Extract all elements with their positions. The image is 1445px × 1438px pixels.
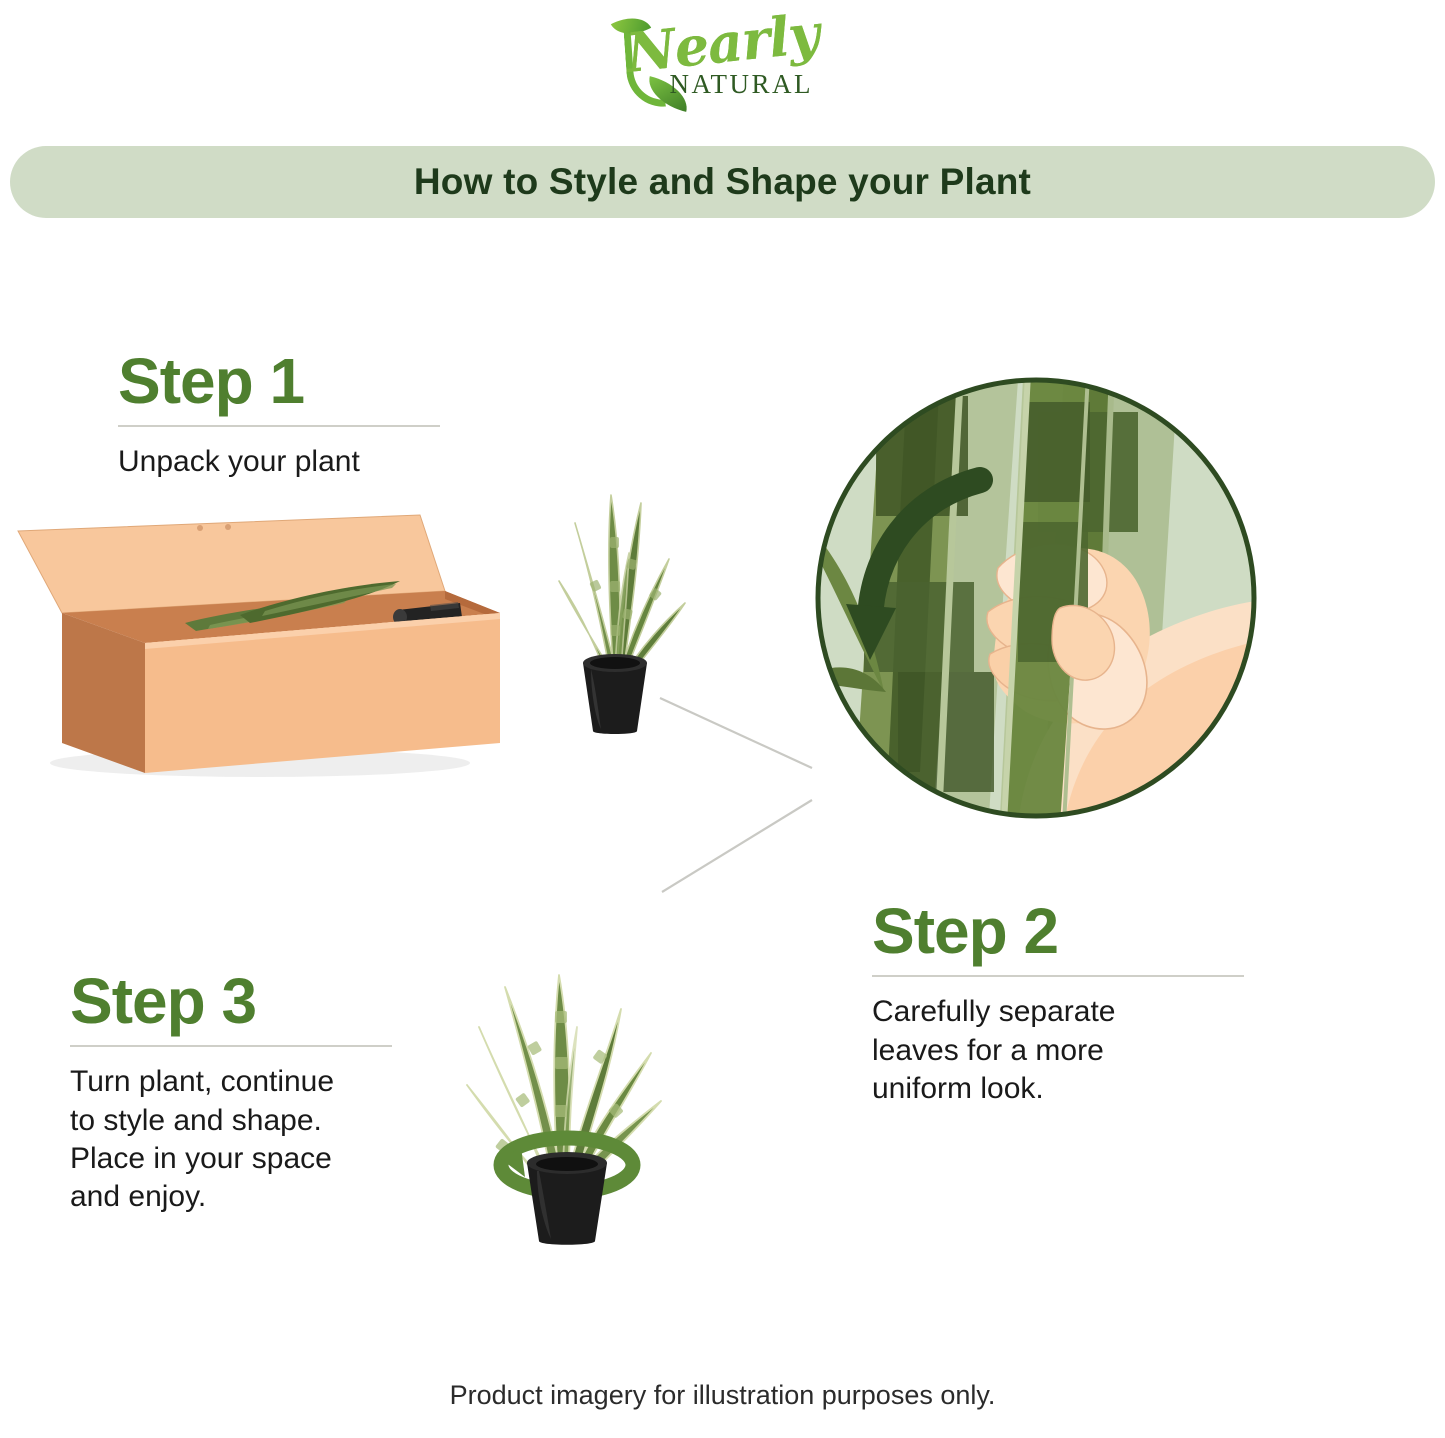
step-2-divider xyxy=(872,975,1244,977)
plant-leaves xyxy=(559,495,685,675)
step-1-text-block: Step 1 Unpack your plant xyxy=(118,348,440,482)
shipping-box-svg xyxy=(0,495,520,785)
footer-disclaimer: Product imagery for illustration purpose… xyxy=(0,1380,1445,1411)
step-1-divider xyxy=(118,425,440,427)
step-3-description: Turn plant, continue to style and shape.… xyxy=(70,1063,392,1217)
step-1-heading: Step 1 xyxy=(118,348,440,415)
step-3-heading: Step 3 xyxy=(70,968,392,1035)
brand-logo-inner: Nearly NATURAL xyxy=(608,9,838,109)
styled-plant-illustration xyxy=(445,965,690,1250)
page-title-banner: How to Style and Shape your Plant xyxy=(10,146,1435,218)
step-3-text-block: Step 3 Turn plant, continue to style and… xyxy=(70,968,392,1217)
shipping-box-illustration xyxy=(0,495,520,785)
step-3-divider xyxy=(70,1045,392,1047)
plant-pot xyxy=(583,654,647,734)
step-1-description: Unpack your plant xyxy=(118,443,440,481)
logo-serif-text: NATURAL xyxy=(670,69,814,100)
step-connector-lines xyxy=(640,670,940,930)
connector-svg xyxy=(640,670,940,930)
page-title: How to Style and Shape your Plant xyxy=(414,161,1031,203)
styled-plant-svg xyxy=(445,965,690,1250)
step-2-description: Carefully separate leaves for a more uni… xyxy=(872,993,1244,1108)
brand-logo: Nearly NATURAL xyxy=(0,6,1445,111)
styled-plant-pot xyxy=(527,1152,607,1245)
